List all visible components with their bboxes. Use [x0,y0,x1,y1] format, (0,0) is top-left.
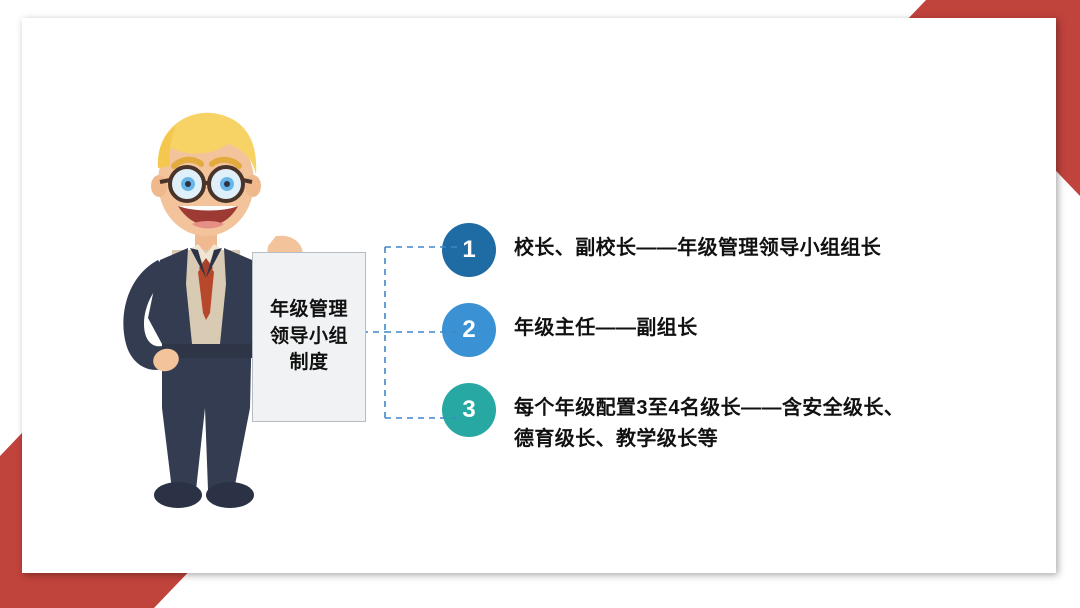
title-card-text: 年级管理 领导小组 制度 [264,297,354,378]
title-card: 年级管理 领导小组 制度 [252,252,366,422]
slide-canvas: 年级管理 领导小组 制度 1 校长、副校长——年级管理领导小组组长 2 年级主任… [0,0,1080,608]
left-pupil [185,181,191,187]
list-item-text-2: 年级主任——副组长 [514,303,698,344]
left-shoe [154,482,202,508]
list-item-text-3: 每个年级配置3至4名级长——含安全级长、 德育级长、教学级长等 [514,383,904,455]
list-item[interactable]: 1 校长、副校长——年级管理领导小组组长 [442,223,881,277]
right-shoe [206,482,254,508]
list-item[interactable]: 2 年级主任——副组长 [442,303,698,357]
left-ear [151,175,167,197]
dashed-connector-bracket [360,225,480,440]
right-pupil [224,181,230,187]
list-item-text-1: 校长、副校长——年级管理领导小组组长 [514,223,881,264]
glasses-temple-left [160,180,170,182]
glasses-temple-right [243,180,252,182]
list-item[interactable]: 3 每个年级配置3至4名级长——含安全级长、 德育级长、教学级长等 [442,383,904,455]
right-ear [245,175,261,197]
